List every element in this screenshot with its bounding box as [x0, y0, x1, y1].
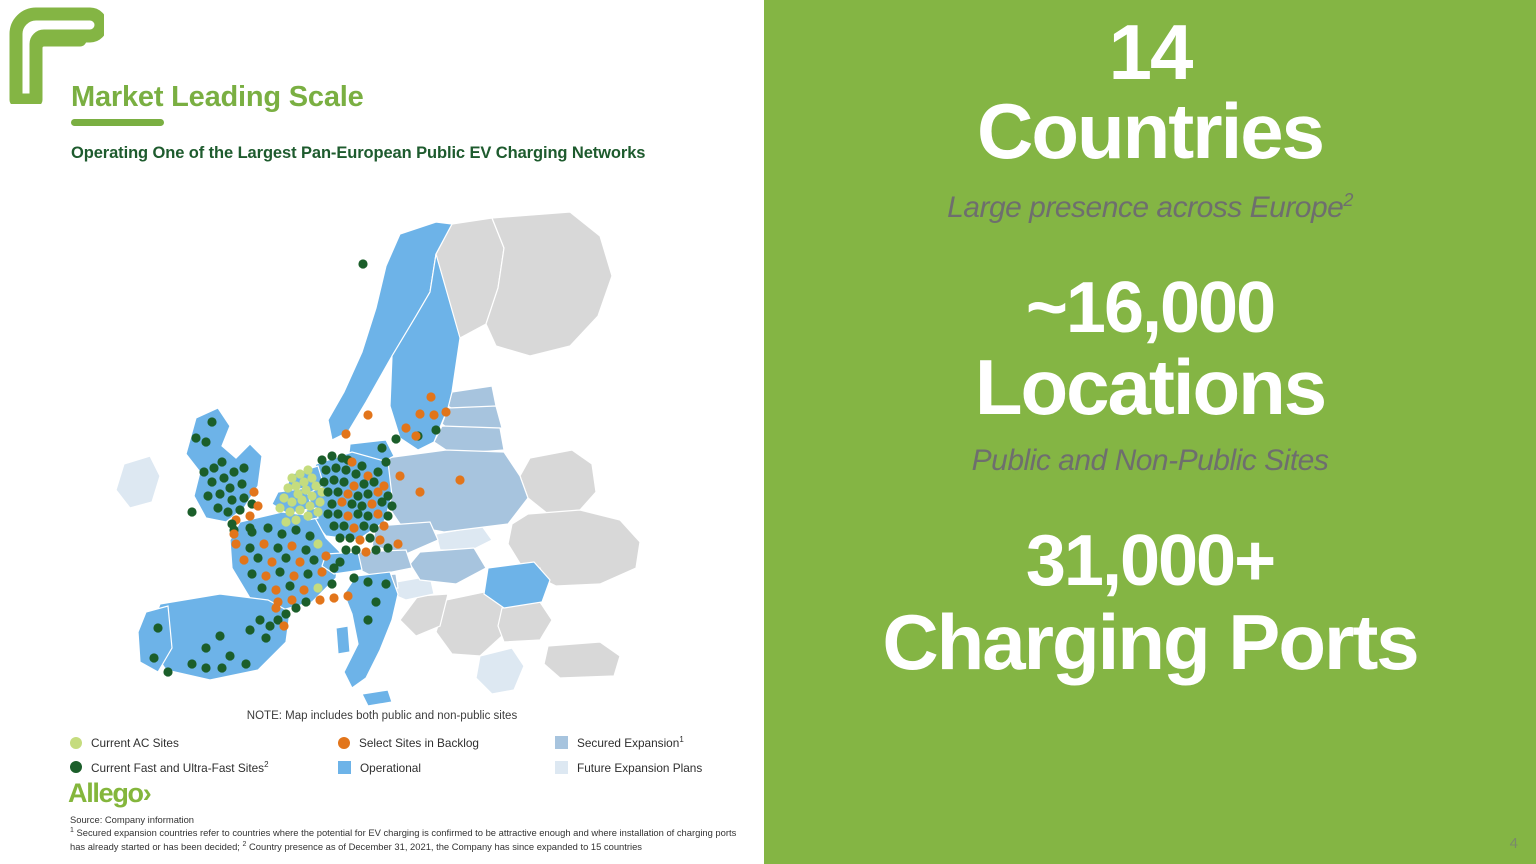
footnote-lines: 1 Secured expansion countries refer to c… — [70, 826, 742, 853]
stats-panel: 14 Countries Large presence across Europ… — [764, 0, 1536, 864]
legend-item-future-expansion: Future Expansion Plans — [555, 761, 750, 775]
content-panel: Market Leading Scale Operating One of th… — [0, 0, 764, 864]
stat-locations-caption: Public and Non-Public Sites — [764, 444, 1536, 478]
stat-countries-name: Countries — [764, 92, 1536, 170]
stat-countries-value: 14 — [764, 14, 1536, 90]
legend-item-select-sites-backlog: Select Sites in Backlog — [338, 736, 555, 750]
legend-swatch-future-expansion — [555, 761, 568, 774]
legend-label: Select Sites in Backlog — [359, 736, 479, 750]
map-note: NOTE: Map includes both public and non-p… — [0, 710, 764, 722]
legend-label: Future Expansion Plans — [577, 761, 702, 775]
stat-locations: ~16,000 Locations Public and Non-Public … — [764, 273, 1536, 478]
legend-swatch-operational — [338, 761, 351, 774]
stat-charging-ports: 31,000+ Charging Ports — [764, 526, 1536, 681]
stat-ports-name: Charging Ports — [764, 603, 1536, 681]
chevron-right-icon: › — [143, 778, 151, 808]
legend-swatch-secured-expansion — [555, 736, 568, 749]
stat-countries-caption: Large presence across Europe2 — [764, 190, 1536, 225]
legend-label: Current Fast and Ultra-Fast Sites2 — [91, 760, 269, 775]
title-underline — [71, 119, 164, 126]
legend-label: Operational — [360, 761, 421, 775]
page-title: Market Leading Scale — [71, 82, 731, 112]
stat-locations-name: Locations — [764, 348, 1536, 426]
legend-label: Secured Expansion1 — [577, 735, 684, 750]
source-notes: Source: Company information 1 Secured ex… — [70, 813, 742, 853]
legend-item-secured-expansion: Secured Expansion1 — [555, 735, 750, 750]
allego-wordmark: Allego› — [68, 780, 151, 807]
stat-locations-value: ~16,000 — [764, 273, 1536, 344]
legend-label: Current AC Sites — [91, 736, 179, 750]
page-subtitle: Operating One of the Largest Pan-Europea… — [71, 143, 731, 165]
map-legend: Current AC Sites Select Sites in Backlog… — [70, 730, 750, 780]
legend-item-current-ac-sites: Current AC Sites — [70, 736, 338, 750]
allego-wordmark-text: Allego — [68, 778, 143, 808]
europe-coverage-map — [100, 196, 660, 708]
title-block: Market Leading Scale Operating One of th… — [71, 82, 731, 165]
legend-swatch-current-fast — [70, 761, 82, 773]
source-line: Source: Company information — [70, 813, 742, 826]
stat-countries: 14 Countries Large presence across Europ… — [764, 14, 1536, 225]
page-number: 4 — [1510, 835, 1518, 852]
legend-item-current-fast-sites: Current Fast and Ultra-Fast Sites2 — [70, 760, 338, 775]
legend-swatch-backlog — [338, 737, 350, 749]
legend-item-operational: Operational — [338, 761, 555, 775]
stat-ports-value: 31,000+ — [764, 526, 1536, 597]
legend-swatch-current-ac — [70, 737, 82, 749]
